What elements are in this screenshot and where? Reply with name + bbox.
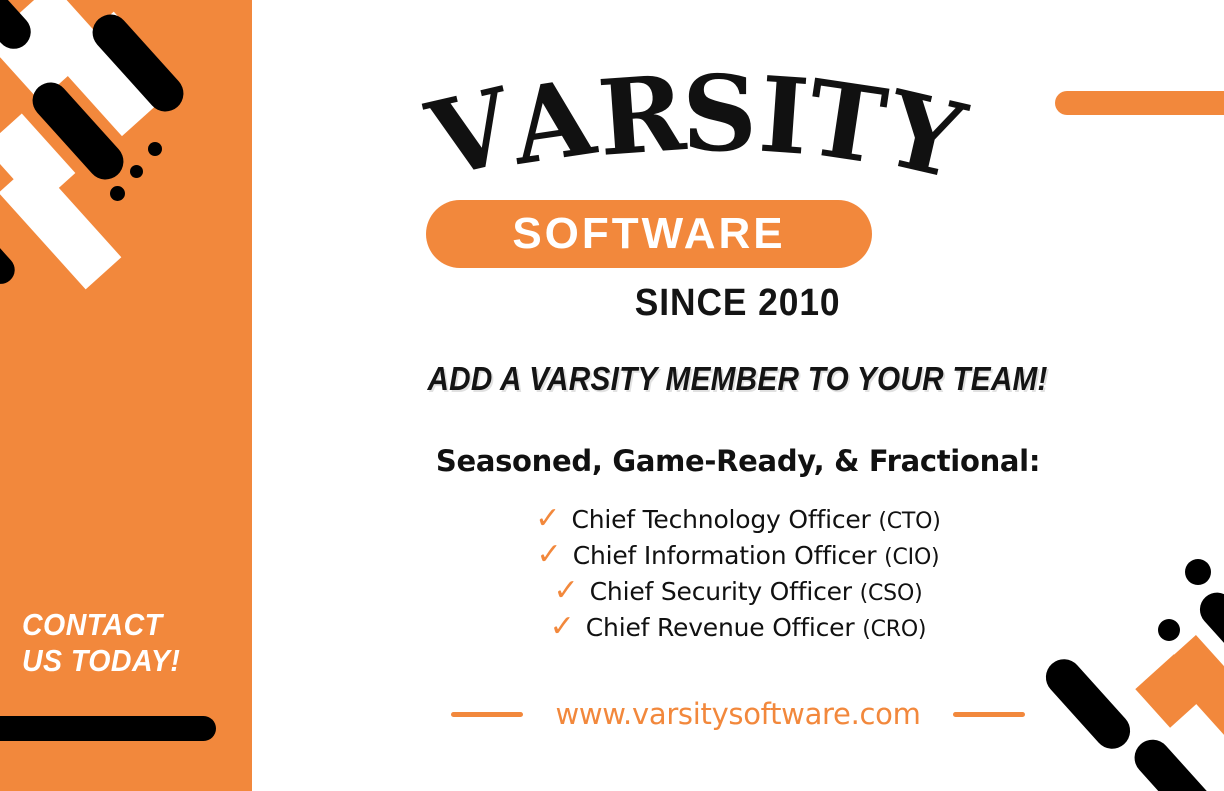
role-title: Chief Revenue Officer (586, 613, 855, 642)
wordmark-letter: R (595, 61, 688, 171)
contact-line-2: US TODAY! (22, 643, 224, 679)
role-label: Chief Security Officer (CSO) (590, 577, 923, 606)
main-content: V A R S I T Y SOFTWARE SINCE 2010 ADD A … (252, 0, 1224, 791)
wordmark-letter: S (682, 62, 757, 166)
role-list: ✓ Chief Technology Officer (CTO) ✓ Chief… (252, 504, 1224, 648)
contact-line-1: CONTACT (22, 607, 224, 643)
divider-dash-right (953, 712, 1025, 717)
brand-wordmark: V A R S I T Y (252, 62, 1224, 192)
divider-dash-left (451, 712, 523, 717)
decorative-black-bar (0, 716, 216, 741)
decorative-black-dot (148, 142, 162, 156)
software-pill: SOFTWARE (426, 200, 872, 268)
role-label: Chief Information Officer (CIO) (573, 541, 940, 570)
decorative-black-dot (130, 165, 143, 178)
wordmark-letter: Y (877, 76, 973, 194)
role-title: Chief Information Officer (573, 541, 877, 570)
list-item: ✓ Chief Information Officer (CIO) (252, 540, 1224, 576)
wordmark-letter: A (505, 65, 600, 180)
decorative-black-dot (110, 186, 125, 201)
check-icon: ✓ (537, 540, 562, 570)
role-label: Chief Technology Officer (CTO) (571, 505, 940, 534)
since-text: SINCE 2010 (635, 282, 841, 325)
list-item: ✓ Chief Technology Officer (CTO) (252, 504, 1224, 540)
contact-cta: CONTACT US TODAY! (22, 607, 242, 679)
role-abbr: (CIO) (884, 545, 939, 570)
list-item: ✓ Chief Revenue Officer (CRO) (252, 612, 1224, 648)
since-label: SINCE 2010 (252, 282, 1224, 325)
flyer-canvas: CONTACT US TODAY! V A R S I T Y (0, 0, 1224, 791)
role-label: Chief Revenue Officer (CRO) (586, 613, 927, 642)
role-title: Chief Technology Officer (571, 505, 870, 534)
sidebar-panel: CONTACT US TODAY! (0, 0, 252, 791)
wordmark-letter: T (800, 65, 892, 179)
footer: www.varsitysoftware.com (252, 697, 1224, 731)
website-url[interactable]: www.varsitysoftware.com (555, 697, 920, 731)
check-icon: ✓ (554, 576, 579, 606)
role-abbr: (CSO) (860, 581, 923, 606)
tagline: ADD A VARSITY MEMBER TO YOUR TEAM! (252, 360, 1224, 398)
decorative-black-capsule (0, 226, 20, 289)
role-abbr: (CTO) (878, 509, 940, 534)
role-abbr: (CRO) (862, 617, 926, 642)
check-icon: ✓ (535, 504, 560, 534)
role-title: Chief Security Officer (590, 577, 852, 606)
wordmark-arch: V A R S I T Y (442, 62, 982, 192)
list-item: ✓ Chief Security Officer (CSO) (252, 576, 1224, 612)
check-icon: ✓ (550, 612, 575, 642)
software-pill-label: SOFTWARE (512, 212, 785, 256)
tagline-text: ADD A VARSITY MEMBER TO YOUR TEAM! (428, 360, 1048, 398)
subhead: Seasoned, Game-Ready, & Fractional: (252, 444, 1224, 478)
